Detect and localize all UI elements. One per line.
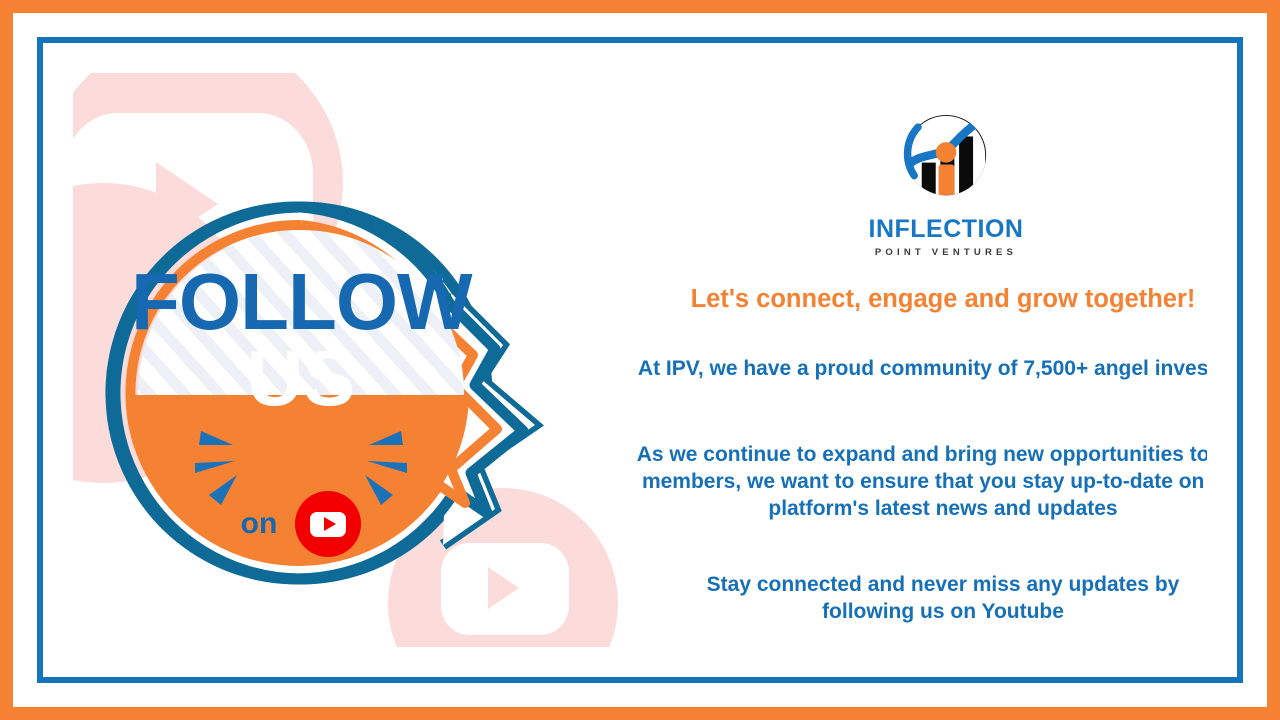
paragraph-community: At IPV, we have a proud community of 7,5…	[623, 355, 1207, 382]
on-label: on	[241, 507, 278, 541]
poster-canvas: FOLLOW US on	[73, 73, 1207, 647]
headline: Let's connect, engage and grow together!	[593, 285, 1207, 314]
outer-orange-border: FOLLOW US on	[0, 0, 1280, 720]
cta-strong: following us on Youtube	[822, 600, 1064, 623]
logo-wordmark: INFLECTION	[841, 215, 1051, 244]
paragraph-call-to-action: Stay connected and never miss any update…	[623, 571, 1207, 625]
follow-us-badge: FOLLOW US on	[83, 173, 603, 647]
youtube-play-icon[interactable]	[295, 491, 361, 557]
logo-tagline: POINT VENTURES	[841, 247, 1051, 258]
inner-blue-border: FOLLOW US on	[37, 37, 1243, 683]
frame-white-gap: FOLLOW US on	[13, 13, 1267, 707]
on-youtube-row: on	[161, 491, 441, 557]
cta-lead: Stay connected and never miss any update…	[707, 573, 1180, 596]
play-triangle	[324, 517, 336, 531]
youtube-plate	[310, 512, 346, 537]
paragraph-updates: As we continue to expand and bring new o…	[623, 441, 1207, 522]
inflection-growth-arrow-icon	[890, 101, 1002, 213]
brand-logo: INFLECTION POINT VENTURES	[841, 101, 1051, 258]
message-column: INFLECTION POINT VENTURES Let's connect,…	[593, 73, 1207, 647]
